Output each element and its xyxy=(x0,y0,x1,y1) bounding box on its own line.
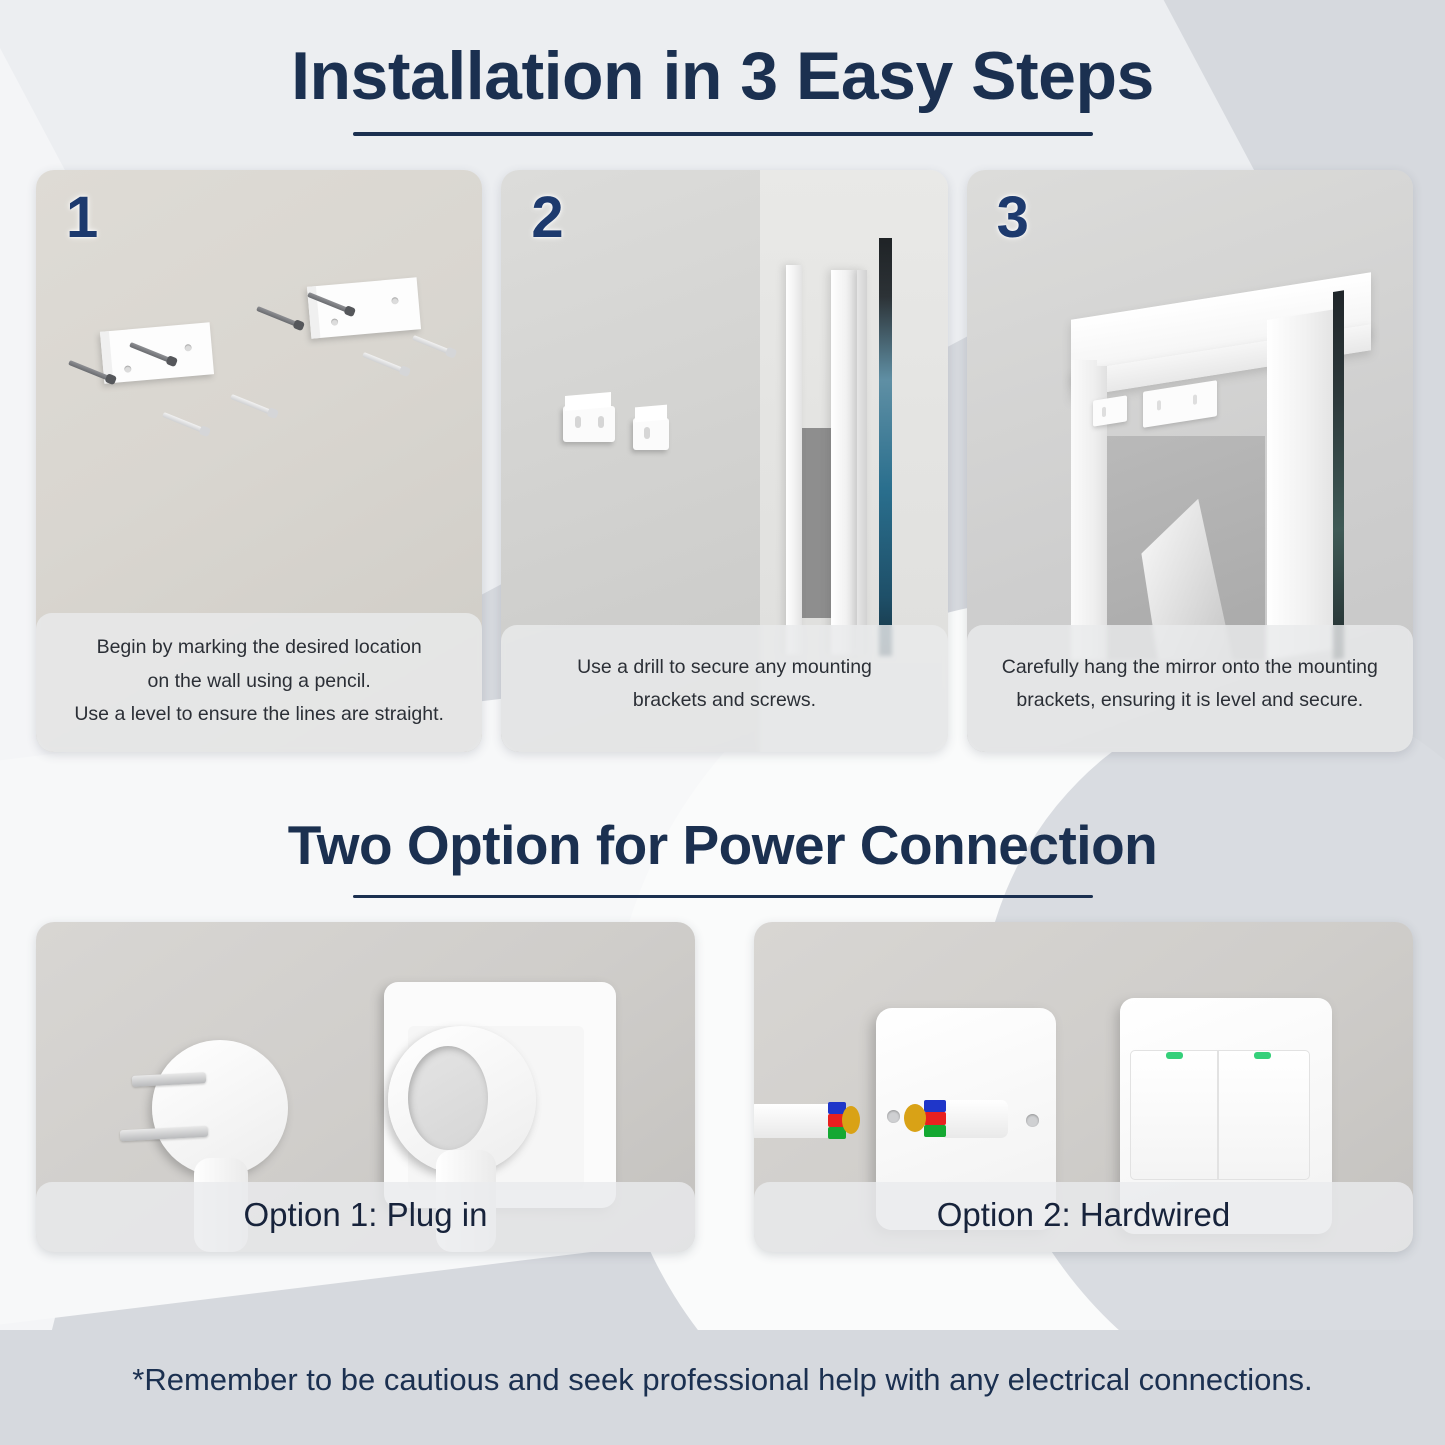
step-caption-2-line-2: brackets and screws. xyxy=(515,684,933,718)
wire-gold-ferrule xyxy=(842,1106,860,1134)
step-caption-1-line-3: Use a level to ensure the lines are stra… xyxy=(50,698,468,732)
step-caption-1-line-1: Begin by marking the desired location xyxy=(50,631,468,665)
step-caption-1-line-2: on the wall using a pencil. xyxy=(50,665,468,699)
junction-screw-right xyxy=(1026,1114,1039,1127)
mirror-frame-inner-edge xyxy=(786,265,802,655)
installation-steps: 1 Begin by marking the desired location … xyxy=(36,170,1413,752)
main-heading-block: Installation in 3 Easy Steps xyxy=(0,42,1445,136)
power-options: Option 1: Plug in xyxy=(36,922,1413,1252)
safety-footnote: *Remember to be cautious and seek profes… xyxy=(0,1362,1445,1398)
step-number-2: 2 xyxy=(531,184,563,251)
option-1-label: Option 1: Plug in xyxy=(36,1182,695,1252)
step-caption-2-line-1: Use a drill to secure any mounting xyxy=(515,651,933,685)
plug-loose-body xyxy=(152,1040,288,1176)
step-number-3: 3 xyxy=(997,184,1029,251)
mirror-glass-edge xyxy=(1333,290,1344,660)
mirror-frame-face xyxy=(831,270,857,655)
title-divider xyxy=(353,132,1093,136)
plug-inserted-recess xyxy=(408,1046,488,1150)
step-card-2: 2 Use a drill to secure any mounting bra… xyxy=(501,170,947,752)
power-section-title: Two Option for Power Connection xyxy=(0,818,1445,873)
switch-indicator-led-left xyxy=(1166,1052,1183,1059)
step-caption-2: Use a drill to secure any mounting brack… xyxy=(501,625,947,752)
mirror-glass-edge xyxy=(879,238,892,656)
light-switch-rocker-right[interactable] xyxy=(1218,1050,1310,1180)
bracket-clip-left xyxy=(1093,395,1127,426)
junction-screw-left xyxy=(887,1110,900,1123)
mirror-frame-right-rail xyxy=(1267,310,1333,660)
infographic-page: Installation in 3 Easy Steps xyxy=(0,0,1445,1445)
step-caption-1: Begin by marking the desired location on… xyxy=(36,613,482,752)
option-2-label: Option 2: Hardwired xyxy=(754,1182,1413,1252)
junction-wire-bundle xyxy=(900,1098,948,1140)
light-switch-rocker-left[interactable] xyxy=(1130,1050,1218,1180)
power-heading-block: Two Option for Power Connection xyxy=(0,818,1445,898)
wire-blue xyxy=(924,1100,946,1112)
junction-connector xyxy=(940,1100,1008,1138)
wire-green xyxy=(924,1125,946,1137)
page-title: Installation in 3 Easy Steps xyxy=(0,42,1445,110)
mounted-bracket-left xyxy=(563,406,615,442)
switch-indicator-led-right xyxy=(1254,1052,1271,1059)
incoming-wire-bundle xyxy=(828,1100,862,1142)
step-caption-3-line-1: Carefully hang the mirror onto the mount… xyxy=(981,651,1399,685)
step-card-3: 3 Carefully hang the mirror onto the mou… xyxy=(967,170,1413,752)
wire-gold-ferrule xyxy=(904,1104,926,1132)
wire-red xyxy=(924,1112,946,1125)
step-caption-3-line-2: brackets, ensuring it is level and secur… xyxy=(981,684,1399,718)
option-card-2: Option 2: Hardwired xyxy=(754,922,1413,1252)
mirror-frame-side xyxy=(857,270,867,655)
step-number-1: 1 xyxy=(66,184,98,251)
mounted-bracket-right xyxy=(633,418,669,450)
step-caption-3: Carefully hang the mirror onto the mount… xyxy=(967,625,1413,752)
power-title-divider xyxy=(353,895,1093,898)
mounting-bracket-right xyxy=(307,277,421,338)
option-card-1: Option 1: Plug in xyxy=(36,922,695,1252)
step-card-1: 1 Begin by marking the desired location … xyxy=(36,170,482,752)
